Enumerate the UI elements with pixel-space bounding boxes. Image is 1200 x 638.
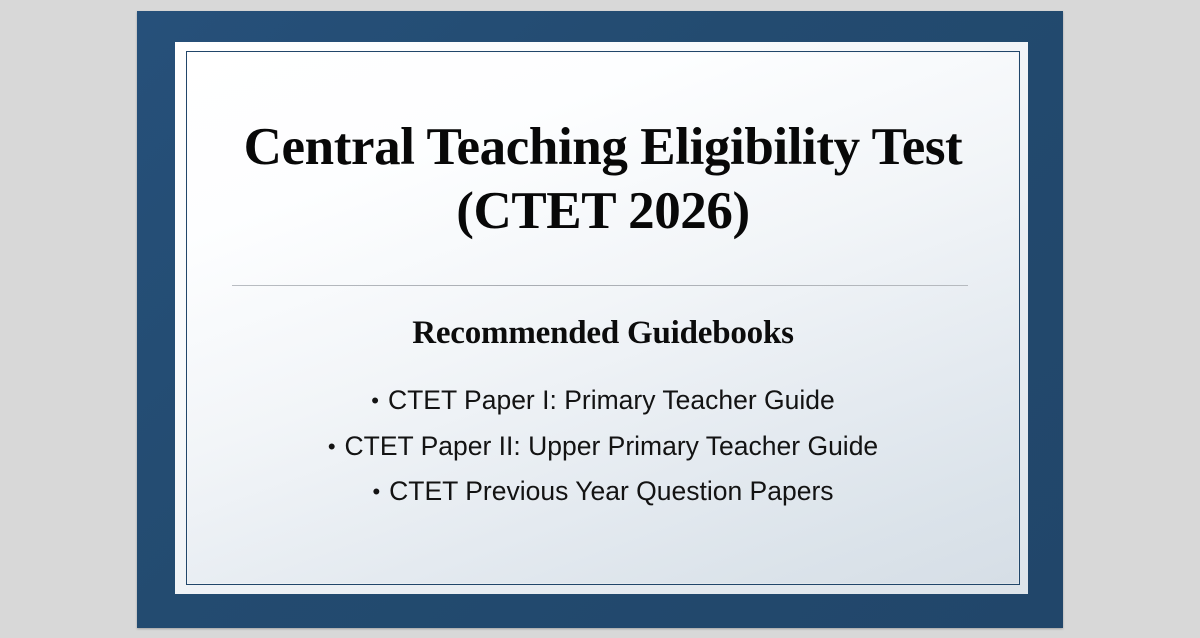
slide-canvas: Central Teaching Eligibility Test (CTET … xyxy=(0,0,1200,638)
poster-keyline xyxy=(186,51,1020,585)
